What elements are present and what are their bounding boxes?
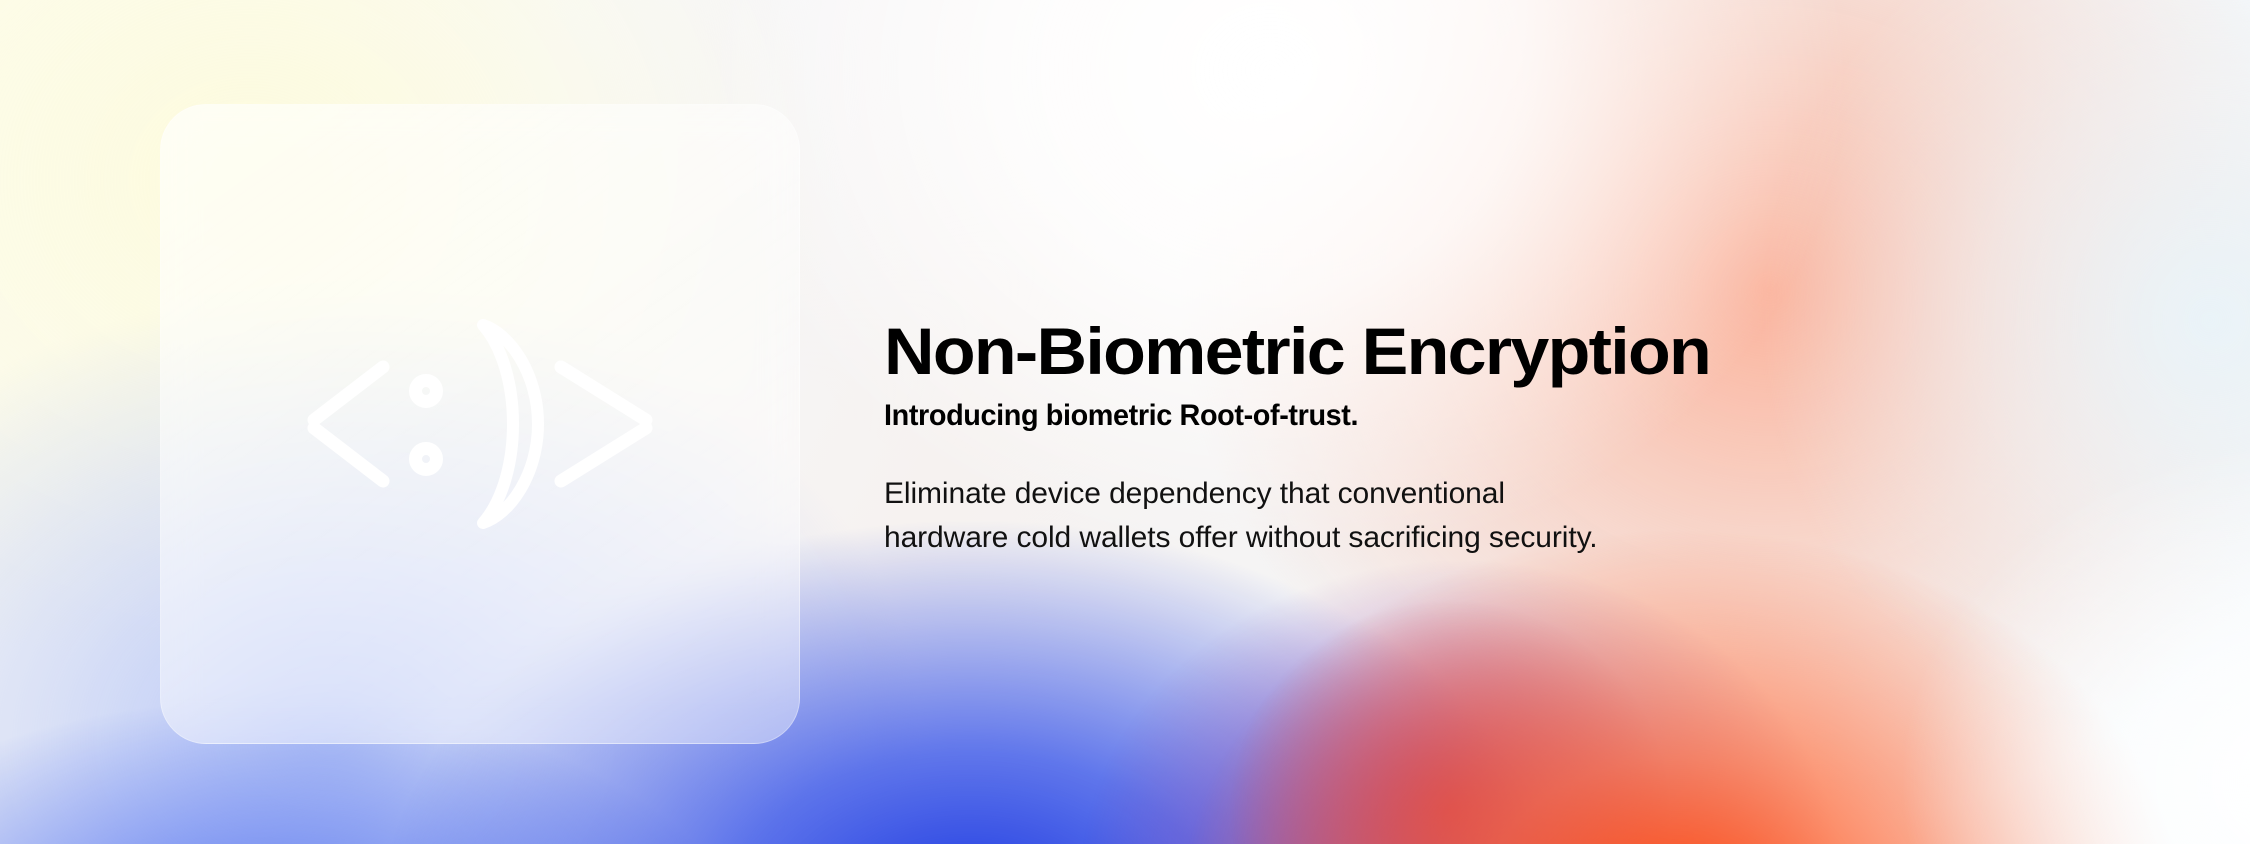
page-title: Non-Biometric Encryption bbox=[884, 318, 2250, 385]
hero-body-line-2: hardware cold wallets offer without sacr… bbox=[884, 516, 2204, 560]
glass-icon-card bbox=[160, 104, 800, 744]
emoticon-bracket-face-icon bbox=[280, 309, 680, 539]
hero-body-line-1: Eliminate device dependency that convent… bbox=[884, 472, 2204, 516]
hero-subheadline: Introducing biometric Root-of-trust. bbox=[884, 399, 2151, 432]
hero-body-text: Eliminate device dependency that convent… bbox=[884, 472, 2204, 560]
hero-copy-block: Non-Biometric Encryption Introducing bio… bbox=[884, 318, 2204, 560]
hero-banner: Non-Biometric Encryption Introducing bio… bbox=[0, 0, 2250, 844]
